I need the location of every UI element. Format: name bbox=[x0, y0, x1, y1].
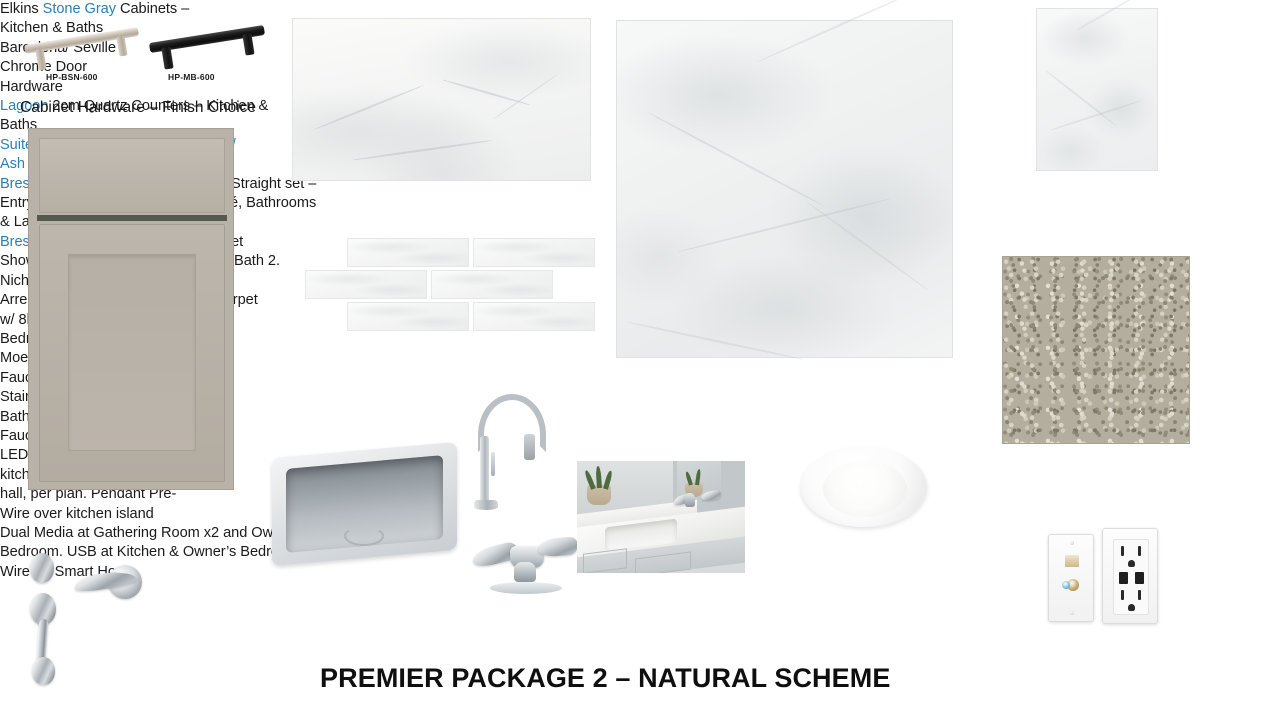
cabinet-pull-brushed-nickel-icon bbox=[22, 18, 140, 70]
handleset-bottom-icon bbox=[32, 657, 55, 685]
bathroom-vanity-photo bbox=[577, 461, 745, 573]
cabinet-hardware-pulls-group: HP-BSN-600 HP-MB-600 bbox=[14, 14, 269, 84]
cabinet-hardware-heading: Cabinet Hardware – Finish Choice bbox=[20, 99, 256, 117]
cabinet-pull-matte-black-icon bbox=[147, 16, 267, 68]
floor-tile-swatch bbox=[616, 20, 953, 358]
bath-faucet-image bbox=[466, 530, 576, 600]
electrical-plates-image bbox=[1048, 528, 1158, 628]
usb-outlet-plate-icon bbox=[1102, 528, 1158, 624]
cabinet-door-sample bbox=[28, 128, 234, 490]
kitchen-sink-image bbox=[272, 440, 462, 575]
pull-sku-label-bsn: HP-BSN-600 bbox=[46, 72, 98, 82]
quartz-counter-swatch bbox=[292, 18, 591, 181]
kitchen-faucet-image bbox=[466, 390, 546, 525]
materials-selection-board: HP-BSN-600 HP-MB-600 Cabinet Hardware – … bbox=[0, 0, 1269, 713]
door-hardware-group bbox=[22, 545, 172, 690]
door-knob-icon bbox=[30, 553, 54, 583]
wall-tile-swatch bbox=[1036, 8, 1158, 171]
pull-sku-label-mb: HP-MB-600 bbox=[168, 72, 215, 82]
media-wall-plate-icon bbox=[1048, 534, 1094, 622]
backsplash-tile-layout bbox=[305, 238, 560, 330]
board-title: PREMIER PACKAGE 2 – NATURAL SCHEME bbox=[320, 663, 890, 694]
led-light-image bbox=[801, 447, 927, 527]
carpet-swatch bbox=[1002, 256, 1190, 444]
